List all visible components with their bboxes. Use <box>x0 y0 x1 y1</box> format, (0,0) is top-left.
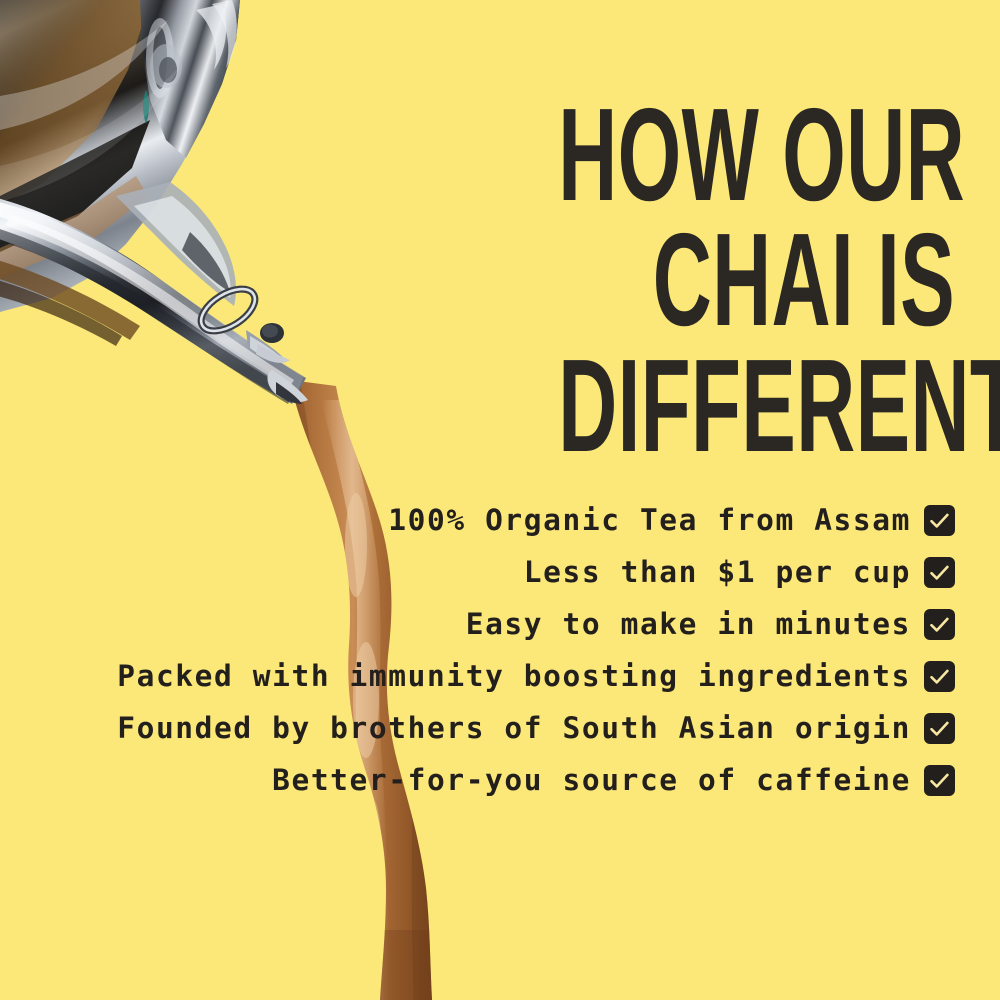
checkbox-checked <box>924 557 955 588</box>
checklist-item: Easy to make in minutes <box>466 609 955 640</box>
checklist-item: Founded by brothers of South Asian origi… <box>117 713 955 744</box>
checklist-item: Better-for-you source of caffeine <box>272 765 955 796</box>
checklist-item-label: Less than $1 per cup <box>524 558 911 588</box>
checkbox-checked <box>924 661 955 692</box>
checklist-item: 100% Organic Tea from Assam <box>388 505 955 536</box>
checkbox-checked <box>924 765 955 796</box>
headline-line-3: DIFFERENT <box>558 343 955 468</box>
check-mark-icon <box>924 505 955 536</box>
checklist-item-label: Better-for-you source of caffeine <box>272 766 911 796</box>
kettle-lid-clip <box>194 281 290 363</box>
check-mark-icon <box>924 557 955 588</box>
poster-canvas: HOW OUR CHAI IS DIFFERENT 100% Organic T… <box>0 0 1000 1000</box>
checkbox-checked <box>924 609 955 640</box>
kettle-spout <box>0 196 308 404</box>
benefits-checklist: 100% Organic Tea from Assam Less than $1… <box>25 505 955 796</box>
check-mark-icon <box>924 765 955 796</box>
checklist-item-label: Easy to make in minutes <box>466 610 911 640</box>
check-mark-icon <box>924 609 955 640</box>
checklist-item-label: Packed with immunity boosting ingredient… <box>117 662 911 692</box>
check-mark-icon <box>924 713 955 744</box>
checkbox-checked <box>924 713 955 744</box>
checklist-item-label: 100% Organic Tea from Assam <box>388 506 911 536</box>
checklist-item: Packed with immunity boosting ingredient… <box>117 661 955 692</box>
headline-line-1: HOW OUR <box>558 92 955 217</box>
page-title: HOW OUR CHAI IS DIFFERENT <box>315 92 955 468</box>
check-mark-icon <box>924 661 955 692</box>
checklist-item-label: Founded by brothers of South Asian origi… <box>117 714 911 744</box>
headline-line-2: CHAI IS <box>558 217 955 342</box>
checkbox-checked <box>924 505 955 536</box>
kettle-body <box>0 0 240 312</box>
checklist-item: Less than $1 per cup <box>524 557 955 588</box>
